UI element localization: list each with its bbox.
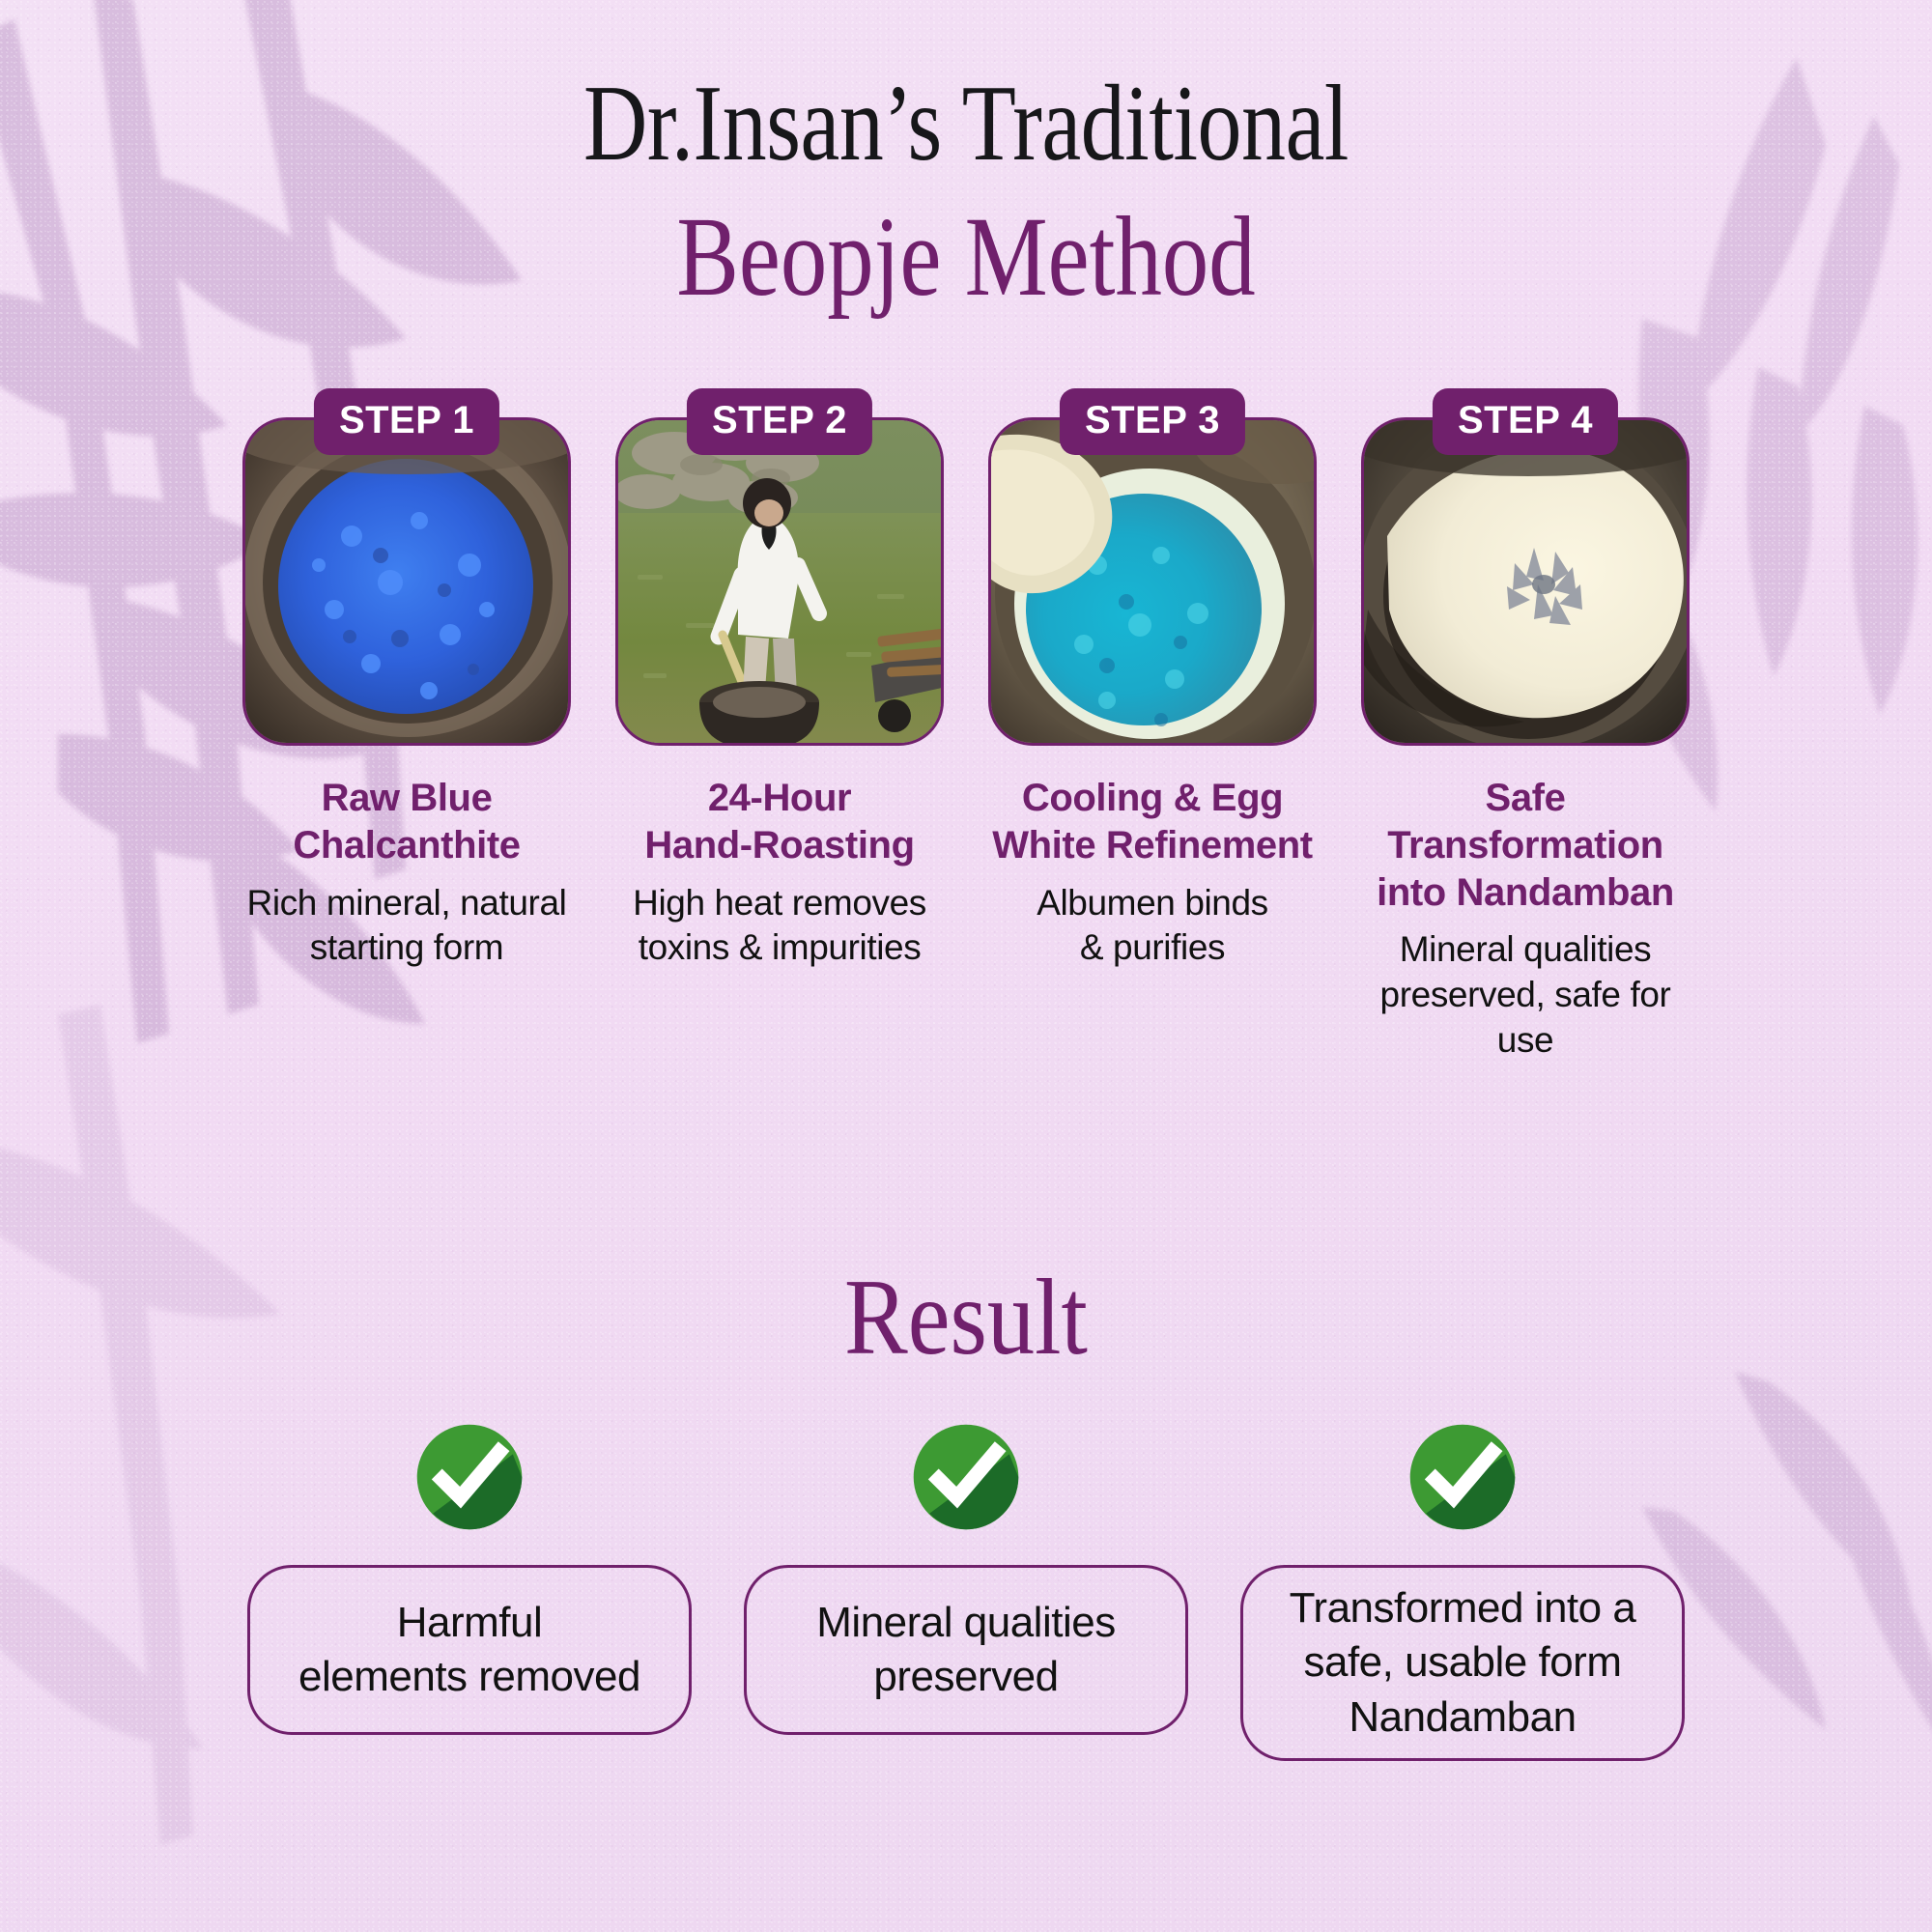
step-card-3[interactable]: STEP 3 Cooling & Egg White Refinement Al… (988, 417, 1317, 1063)
step-3-desc: Albumen binds & purifies (988, 881, 1317, 971)
result-box-1: Harmful elements removed (247, 1565, 692, 1735)
step-3-caption: Cooling & Egg White Refinement Albumen b… (988, 775, 1317, 971)
result-text-3: Transformed into a safe, usable form Nan… (1290, 1581, 1636, 1745)
step-3-image (988, 417, 1317, 746)
step-2-image (615, 417, 944, 746)
step-2-badge: STEP 2 (687, 388, 872, 455)
result-1-line-2: elements removed (298, 1650, 640, 1704)
step-2-desc-line-2: toxins & impurities (615, 925, 944, 971)
step-card-4[interactable]: STEP 4 Safe Transformation into Nandamba… (1361, 417, 1690, 1063)
step-card-1[interactable]: STEP 1 Raw Blue Chalcanthite Rich minera… (242, 417, 571, 1063)
step-card-2[interactable]: STEP 2 24-Hour Hand-Roasting High heat r… (615, 417, 944, 1063)
step-2-desc: High heat removes toxins & impurities (615, 881, 944, 971)
step-4-title: Safe Transformation into Nandamban (1361, 775, 1690, 916)
step-1-image (242, 417, 571, 746)
step-1-desc-line-2: starting form (242, 925, 571, 971)
result-3-line-2: safe, usable form (1290, 1635, 1636, 1690)
green-check-icon (909, 1420, 1023, 1534)
step-3-title-line-1: Cooling & Egg (988, 775, 1317, 822)
result-text-1: Harmful elements removed (298, 1596, 640, 1705)
step-2-caption: 24-Hour Hand-Roasting High heat removes … (615, 775, 944, 971)
step-4-title-line-2: into Nandamban (1361, 869, 1690, 917)
infographic-page: Dr.Insan’s Traditional Beopje Method (0, 0, 1932, 1932)
page-title: Dr.Insan’s Traditional Beopje Method (0, 0, 1932, 324)
green-check-icon (412, 1420, 526, 1534)
result-item-3: Transformed into a safe, usable form Nan… (1240, 1420, 1685, 1761)
step-1-desc: Rich mineral, natural starting form (242, 881, 571, 971)
result-box-3: Transformed into a safe, usable form Nan… (1240, 1565, 1685, 1761)
step-2-title-line-2: Hand-Roasting (615, 822, 944, 869)
step-4-desc-line-2: preserved, safe for use (1361, 973, 1690, 1063)
step-1-caption: Raw Blue Chalcanthite Rich mineral, natu… (242, 775, 571, 971)
result-box-2: Mineral qualities preserved (744, 1565, 1188, 1735)
results-row: Harmful elements removed Mineral qualiti… (0, 1420, 1932, 1761)
result-2-line-1: Mineral qualities (816, 1596, 1115, 1650)
step-2-desc-line-1: High heat removes (615, 881, 944, 926)
step-1-title-line-1: Raw Blue (242, 775, 571, 822)
step-3-title: Cooling & Egg White Refinement (988, 775, 1317, 869)
step-3-badge: STEP 3 (1060, 388, 1245, 455)
step-4-image (1361, 417, 1690, 746)
title-line-2: Beopje Method (174, 189, 1758, 324)
step-4-desc-line-1: Mineral qualities (1361, 927, 1690, 973)
result-1-line-1: Harmful (298, 1596, 640, 1650)
step-2-title: 24-Hour Hand-Roasting (615, 775, 944, 869)
green-check-icon (1406, 1420, 1520, 1534)
result-3-line-3: Nandamban (1290, 1690, 1636, 1745)
step-3-desc-line-2: & purifies (988, 925, 1317, 971)
step-4-desc: Mineral qualities preserved, safe for us… (1361, 927, 1690, 1063)
steps-row: STEP 1 Raw Blue Chalcanthite Rich minera… (0, 417, 1932, 1063)
result-2-line-2: preserved (816, 1650, 1115, 1704)
step-1-title: Raw Blue Chalcanthite (242, 775, 571, 869)
result-text-2: Mineral qualities preserved (816, 1596, 1115, 1705)
step-4-badge: STEP 4 (1433, 388, 1618, 455)
result-item-2: Mineral qualities preserved (744, 1420, 1188, 1761)
step-1-badge: STEP 1 (314, 388, 499, 455)
step-1-title-line-2: Chalcanthite (242, 822, 571, 869)
result-heading: Result (116, 1256, 1816, 1380)
title-line-1: Dr.Insan’s Traditional (174, 60, 1758, 187)
step-4-title-line-1: Safe Transformation (1361, 775, 1690, 869)
step-4-caption: Safe Transformation into Nandamban Miner… (1361, 775, 1690, 1063)
step-2-title-line-1: 24-Hour (615, 775, 944, 822)
step-3-desc-line-1: Albumen binds (988, 881, 1317, 926)
step-1-desc-line-1: Rich mineral, natural (242, 881, 571, 926)
result-item-1: Harmful elements removed (247, 1420, 692, 1761)
step-3-title-line-2: White Refinement (988, 822, 1317, 869)
result-3-line-1: Transformed into a (1290, 1581, 1636, 1635)
